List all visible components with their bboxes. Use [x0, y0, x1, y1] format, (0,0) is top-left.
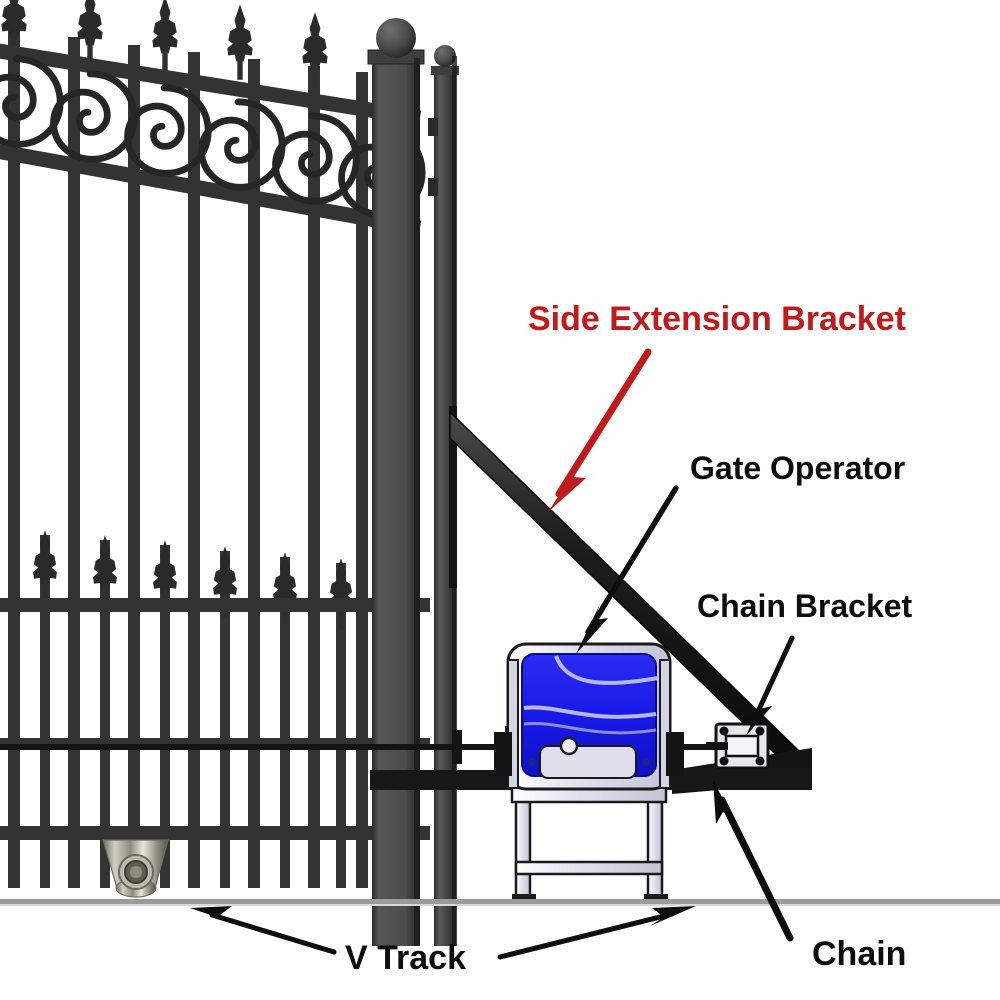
v-track-arrow-right: [500, 906, 696, 957]
label-gate-operator: Gate Operator: [690, 450, 905, 486]
side-extension-bracket-arrow: [548, 352, 648, 512]
label-side-extension-bracket: Side Extension Bracket: [528, 300, 906, 338]
label-chain-bracket: Chain Bracket: [697, 588, 913, 624]
label-chain: Chain: [812, 935, 906, 973]
label-v-track: V Track: [345, 939, 466, 977]
chain-arrow: [713, 780, 790, 938]
v-groove-wheel: [103, 840, 168, 897]
v-track-rail: [0, 899, 1000, 906]
diagram-canvas: Side Extension Bracket Gate Operator Cha…: [0, 0, 1000, 1000]
gate-operator-installation-diagram: Side Extension Bracket Gate Operator Cha…: [0, 0, 1000, 1000]
chain-bracket-assembly: [706, 724, 768, 768]
operator-body: [522, 654, 658, 778]
gate-operator-unit: [494, 644, 684, 902]
operator-stand: [512, 782, 668, 902]
gate-post-with-ball-cap: [368, 18, 424, 946]
v-track-arrow-left: [190, 906, 334, 952]
sliding-gate-leaf: [0, 0, 430, 888]
